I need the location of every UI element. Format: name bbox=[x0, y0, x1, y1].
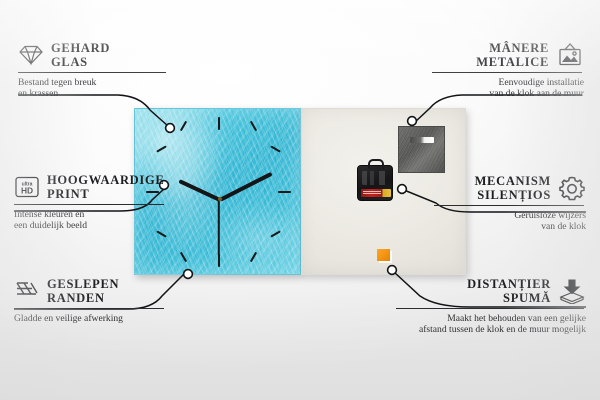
feature-header: ultra HD HOOGWAARDIGE PRINT bbox=[14, 173, 166, 201]
feature-header: DISTANȚIER SPUMĂ bbox=[396, 277, 586, 305]
feature-subtitle: Gladde en veilige afwerking bbox=[14, 313, 166, 324]
feature-title: DISTANȚIER SPUMĂ bbox=[467, 277, 551, 305]
clock-second-hand bbox=[218, 199, 220, 256]
clock-tick-10 bbox=[156, 145, 167, 152]
feature-subtitle: Bestand tegen breuk en krassen bbox=[18, 77, 168, 100]
svg-text:HD: HD bbox=[21, 186, 33, 196]
mechanism-detail bbox=[362, 171, 390, 185]
clock-tick-5 bbox=[250, 252, 257, 263]
beveled-edges-icon bbox=[14, 280, 40, 302]
product-image-group bbox=[134, 108, 466, 275]
metal-hanger-plate bbox=[398, 126, 445, 173]
battery bbox=[361, 189, 391, 197]
clock-tick-6 bbox=[218, 254, 220, 267]
feature-header: GEHARD GLAS bbox=[18, 41, 168, 69]
clock-tick-7 bbox=[180, 252, 187, 263]
feature-divider bbox=[434, 205, 584, 206]
infographic-canvas: GEHARD GLAS Bestand tegen breuk en krass… bbox=[0, 0, 600, 400]
clock-mechanism bbox=[357, 165, 393, 201]
clock-hour-hand bbox=[178, 179, 220, 202]
feature-distantier-spuma: DISTANȚIER SPUMĂ Maakt het behouden van … bbox=[396, 277, 586, 336]
gear-icon bbox=[558, 175, 586, 201]
feature-divider bbox=[432, 72, 582, 73]
feature-divider bbox=[18, 72, 166, 73]
feature-mecanism-silentios: MECANISM SILENȚIOS Geruisloze wijzers va… bbox=[434, 174, 586, 233]
clock-tick-1 bbox=[250, 121, 257, 132]
feature-title: HOOGWAARDIGE PRINT bbox=[47, 173, 164, 201]
feature-subtitle: Intense kleuren en een duidelijk beeld bbox=[14, 209, 166, 232]
clock-minute-hand bbox=[219, 172, 272, 202]
feature-divider bbox=[14, 204, 164, 205]
feature-subtitle: Eenvoudige installatie van de klok aan d… bbox=[432, 77, 584, 100]
mechanism-hanging-loop bbox=[368, 159, 384, 169]
foam-spacer-icon bbox=[558, 278, 586, 304]
battery-label bbox=[363, 191, 381, 194]
feature-header: MECANISM SILENȚIOS bbox=[434, 174, 586, 202]
feature-header: MÂNERE METALICE bbox=[432, 41, 584, 69]
feature-manere-metalice: MÂNERE METALICE Eenvoudige installatie v… bbox=[432, 41, 584, 100]
feature-gehard-glas: GEHARD GLAS Bestand tegen breuk en krass… bbox=[18, 41, 168, 100]
feature-title: MÂNERE METALICE bbox=[476, 41, 549, 69]
feature-title: MECANISM SILENȚIOS bbox=[475, 174, 551, 202]
clock-center-pin bbox=[218, 197, 222, 201]
clock-tick-2 bbox=[270, 145, 281, 152]
hanger-slot bbox=[410, 137, 434, 143]
picture-hanger-icon bbox=[556, 42, 584, 68]
clock-tick-4 bbox=[270, 230, 281, 237]
ultra-hd-icon: ultra HD bbox=[14, 175, 40, 199]
feature-hoogwaardige-print: ultra HD HOOGWAARDIGE PRINT Intense kleu… bbox=[14, 173, 166, 232]
diamond-icon bbox=[18, 44, 44, 66]
feature-subtitle: Geruisloze wijzers van de klok bbox=[434, 210, 586, 233]
feature-title: GESLEPEN RANDEN bbox=[47, 277, 119, 305]
feature-subtitle: Maakt het behouden van een gelijke afsta… bbox=[396, 313, 586, 336]
foam-spacer bbox=[377, 249, 390, 261]
clock-tick-11 bbox=[180, 121, 187, 132]
clock-tick-3 bbox=[278, 191, 291, 193]
feature-divider bbox=[14, 308, 164, 309]
feature-title: GEHARD GLAS bbox=[51, 41, 110, 69]
feature-geslepen-randen: GESLEPEN RANDEN Gladde en veilige afwerk… bbox=[14, 277, 166, 324]
clock-tick-12 bbox=[218, 117, 220, 130]
feature-divider bbox=[396, 308, 584, 309]
feature-header: GESLEPEN RANDEN bbox=[14, 277, 166, 305]
